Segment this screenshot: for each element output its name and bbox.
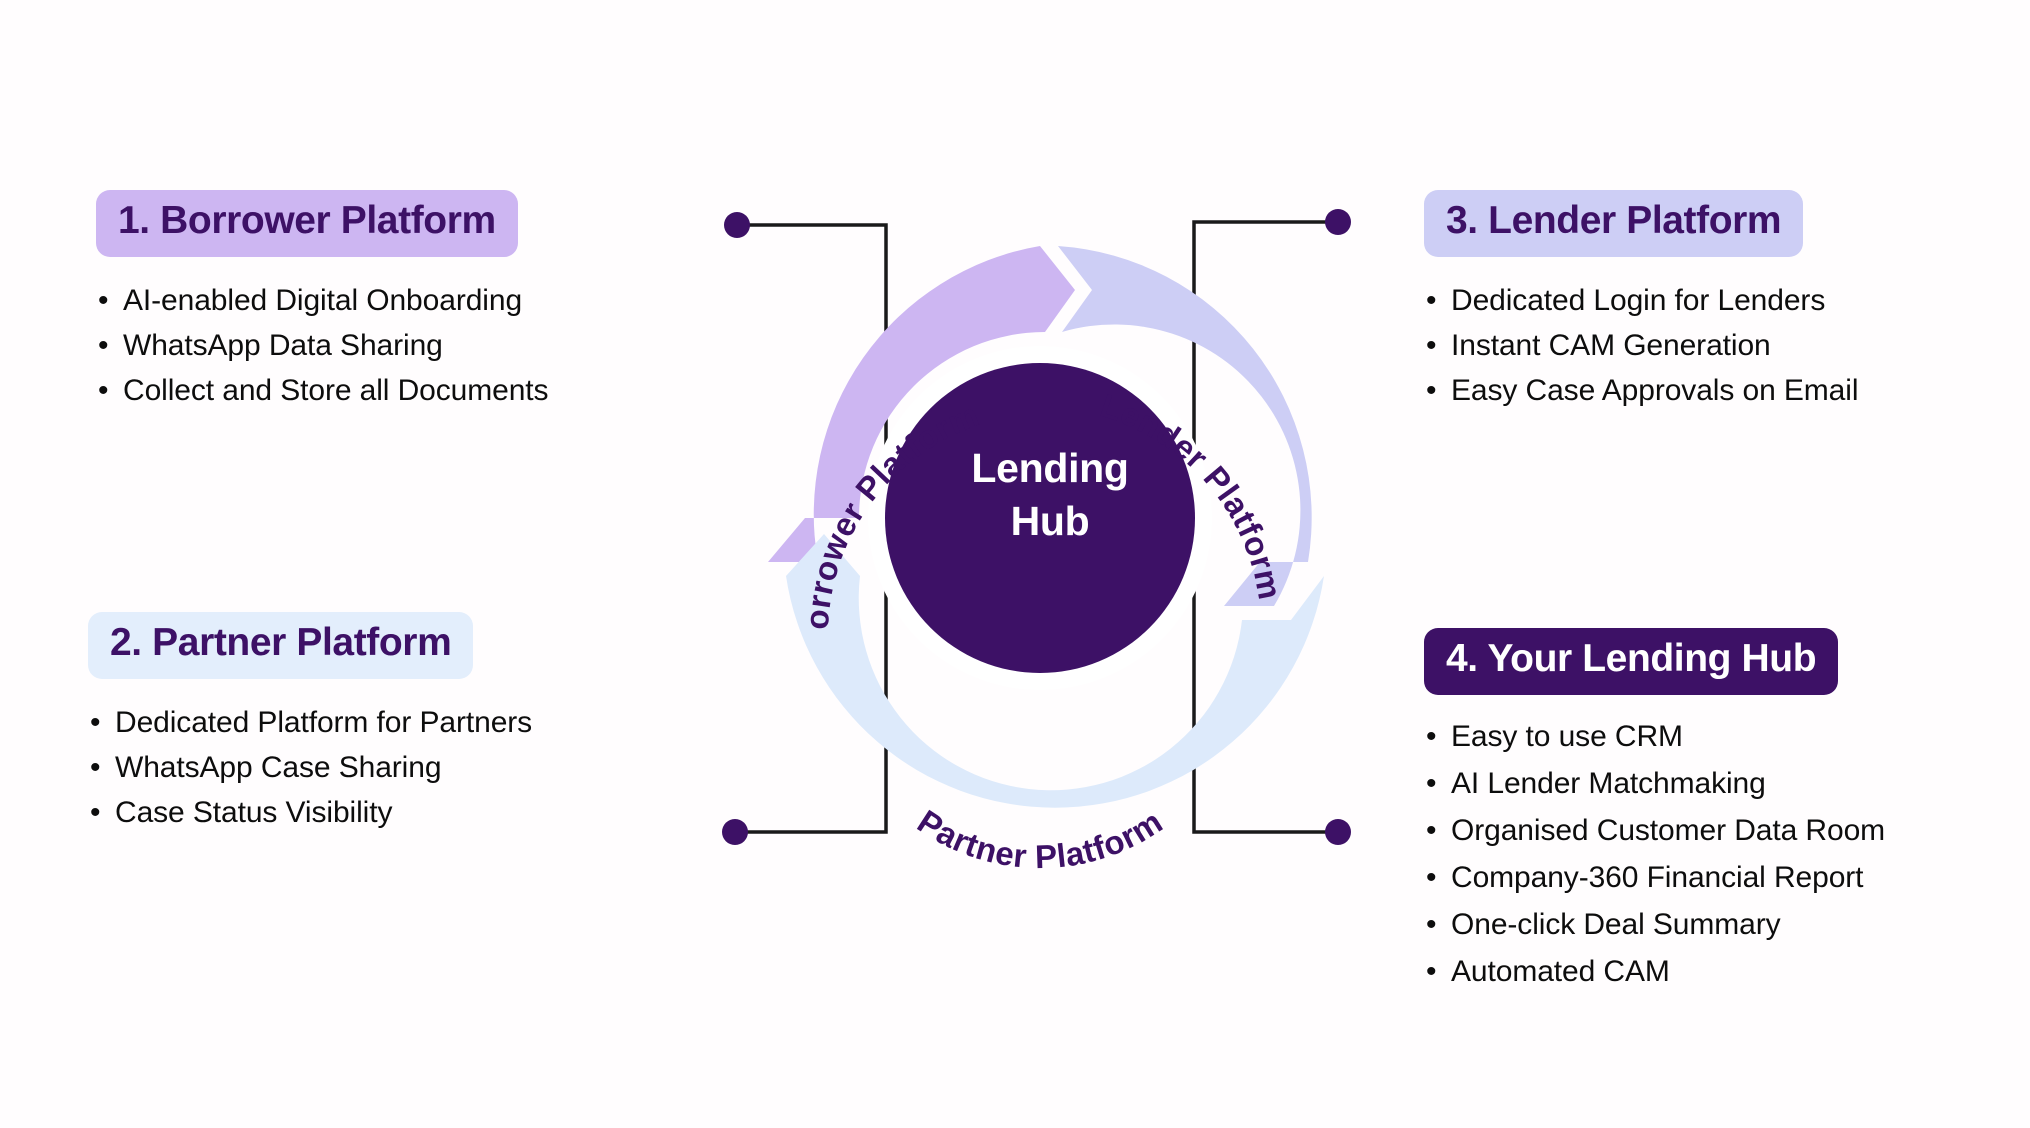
- bullet-list-partner-platform: •Dedicated Platform for Partners •WhatsA…: [88, 705, 648, 830]
- list-item: •Instant CAM Generation: [1424, 328, 1984, 363]
- panel-title-your-lending-hub: 4. Your Lending Hub: [1424, 628, 1838, 695]
- lending-hub-cycle-diagram: Borrower Platform Lender Platform Partne…: [700, 170, 1400, 890]
- list-item: •One-click Deal Summary: [1424, 907, 1984, 942]
- diagram-canvas: 1. Borrower Platform •AI-enabled Digital…: [0, 0, 2030, 1128]
- list-item-label: Dedicated Platform for Partners: [115, 706, 532, 739]
- bullet-marker-icon: •: [1426, 813, 1436, 848]
- list-item-label: AI-enabled Digital Onboarding: [123, 284, 522, 317]
- list-item: •Organised Customer Data Room: [1424, 813, 1984, 848]
- list-item: •Dedicated Login for Lenders: [1424, 283, 1984, 318]
- list-item-label: AI Lender Matchmaking: [1451, 767, 1766, 800]
- list-item-label: Company-360 Financial Report: [1451, 861, 1863, 894]
- bullet-marker-icon: •: [1426, 373, 1436, 408]
- ring-label-partner: Partner Platform: [911, 802, 1169, 875]
- list-item-label: WhatsApp Case Sharing: [115, 751, 441, 784]
- bullet-list-borrower-platform: •AI-enabled Digital Onboarding •WhatsApp…: [96, 283, 656, 408]
- bullet-marker-icon: •: [90, 795, 100, 830]
- list-item-label: One-click Deal Summary: [1451, 908, 1781, 941]
- list-item: •Collect and Store all Documents: [96, 373, 656, 408]
- list-item-label: WhatsApp Data Sharing: [123, 329, 443, 362]
- panel-title-lender-platform: 3. Lender Platform: [1424, 190, 1803, 257]
- list-item-label: Organised Customer Data Room: [1451, 814, 1885, 847]
- list-item: •Company-360 Financial Report: [1424, 860, 1984, 895]
- list-item: •WhatsApp Data Sharing: [96, 328, 656, 363]
- connector-dot-lender: [1325, 209, 1351, 235]
- bullet-marker-icon: •: [98, 283, 108, 318]
- panel-partner-platform: 2. Partner Platform •Dedicated Platform …: [88, 612, 648, 840]
- bullet-marker-icon: •: [90, 750, 100, 785]
- list-item: •Easy to use CRM: [1424, 719, 1984, 754]
- bullet-marker-icon: •: [1426, 283, 1436, 318]
- bullet-marker-icon: •: [1426, 907, 1436, 942]
- bullet-marker-icon: •: [1426, 954, 1436, 989]
- bullet-marker-icon: •: [1426, 719, 1436, 754]
- bullet-marker-icon: •: [1426, 328, 1436, 363]
- bullet-marker-icon: •: [98, 373, 108, 408]
- list-item: •Automated CAM: [1424, 954, 1984, 989]
- bullet-marker-icon: •: [1426, 860, 1436, 895]
- list-item-label: Instant CAM Generation: [1451, 329, 1771, 362]
- bullet-marker-icon: •: [90, 705, 100, 740]
- list-item-label: Automated CAM: [1451, 955, 1670, 988]
- panel-lender-platform: 3. Lender Platform •Dedicated Login for …: [1424, 190, 1984, 418]
- list-item: •Dedicated Platform for Partners: [88, 705, 648, 740]
- panel-borrower-platform: 1. Borrower Platform •AI-enabled Digital…: [96, 190, 656, 418]
- bullet-list-lender-platform: •Dedicated Login for Lenders •Instant CA…: [1424, 283, 1984, 408]
- list-item: •AI-enabled Digital Onboarding: [96, 283, 656, 318]
- list-item: •Easy Case Approvals on Email: [1424, 373, 1984, 408]
- list-item-label: Easy to use CRM: [1451, 720, 1683, 753]
- panel-title-borrower-platform: 1. Borrower Platform: [96, 190, 518, 257]
- bullet-marker-icon: •: [1426, 766, 1436, 801]
- panel-title-partner-platform: 2. Partner Platform: [88, 612, 473, 679]
- connector-dot-borrower: [724, 212, 750, 238]
- list-item-label: Collect and Store all Documents: [123, 374, 548, 407]
- connector-dot-partner: [722, 819, 748, 845]
- list-item: •Case Status Visibility: [88, 795, 648, 830]
- list-item-label: Easy Case Approvals on Email: [1451, 374, 1858, 407]
- list-item-label: Dedicated Login for Lenders: [1451, 284, 1825, 317]
- list-item-label: Case Status Visibility: [115, 796, 392, 829]
- panel-your-lending-hub: 4. Your Lending Hub •Easy to use CRM •AI…: [1424, 628, 1984, 1002]
- list-item: •AI Lender Matchmaking: [1424, 766, 1984, 801]
- bullet-marker-icon: •: [98, 328, 108, 363]
- connector-dot-your-hub: [1325, 819, 1351, 845]
- list-item: •WhatsApp Case Sharing: [88, 750, 648, 785]
- bullet-list-your-lending-hub: •Easy to use CRM •AI Lender Matchmaking …: [1424, 719, 1984, 990]
